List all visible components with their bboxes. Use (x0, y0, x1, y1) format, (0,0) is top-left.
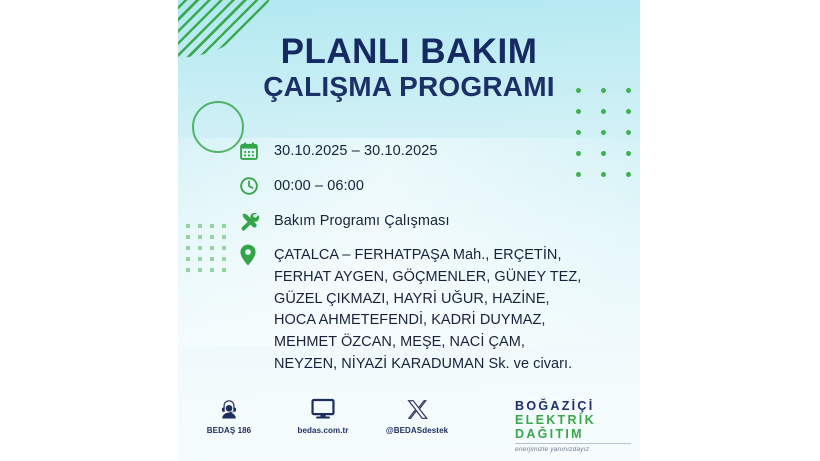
calendar-icon (239, 140, 265, 162)
info-row-date: 30.10.2025 – 30.10.2025 (239, 140, 631, 162)
x-twitter-icon (381, 396, 453, 422)
page-title: PLANLI BAKIM (178, 34, 640, 70)
address-text: ÇATALCA – FERHATPAŞA Mah., ERÇETİN, FERH… (274, 245, 581, 376)
tools-icon (239, 210, 265, 232)
logo-line-dagitim: DAĞITIM (515, 427, 631, 441)
contact-x-label: @BEDASdestek (381, 426, 453, 435)
page-subtitle: ÇALIŞMA PROGRAMI (178, 70, 640, 104)
contact-website[interactable]: bedas.com.tr (287, 396, 359, 435)
contact-channels: BEDAŞ 186 bedas.com.tr (193, 396, 453, 435)
info-row-address: ÇATALCA – FERHATPAŞA Mah., ERÇETİN, FERH… (239, 245, 631, 376)
circle-outline-decoration (192, 101, 244, 153)
contact-phone[interactable]: BEDAŞ 186 (193, 396, 265, 435)
square-grid-decoration (186, 224, 234, 279)
logo-line-bogazici: BOĞAZİÇİ (515, 399, 631, 413)
poster-heading: PLANLI BAKIM ÇALIŞMA PROGRAMI (178, 34, 640, 104)
location-pin-icon (239, 245, 265, 265)
contact-website-label: bedas.com.tr (287, 426, 359, 435)
call-center-agent-icon (193, 396, 265, 422)
date-range-text: 30.10.2025 – 30.10.2025 (274, 140, 438, 162)
contact-x-twitter[interactable]: @BEDASdestek (381, 396, 453, 435)
info-row-time: 00:00 – 06:00 (239, 175, 631, 197)
bedas-logo: BOĞAZİÇİ ELEKTRİK DAĞITIM enerjimizle ya… (515, 399, 631, 453)
logo-line-elektrik: ELEKTRİK (515, 413, 631, 427)
work-type-text: Bakım Programı Çalışması (274, 210, 450, 232)
clock-icon (239, 175, 265, 197)
monitor-icon (287, 396, 359, 422)
logo-tagline: enerjimizle yanınızdayız (515, 443, 631, 453)
planned-maintenance-poster: PLANLI BAKIM ÇALIŞMA PROGRAMI (178, 0, 640, 461)
info-list: 30.10.2025 – 30.10.2025 00:00 – 06:00 (239, 140, 631, 376)
contact-phone-label: BEDAŞ 186 (193, 426, 265, 435)
poster-footer: BEDAŞ 186 bedas.com.tr (178, 396, 640, 450)
info-row-worktype: Bakım Programı Çalışması (239, 210, 631, 232)
time-range-text: 00:00 – 06:00 (274, 175, 364, 197)
screenshot-root: PLANLI BAKIM ÇALIŞMA PROGRAMI (0, 0, 820, 461)
